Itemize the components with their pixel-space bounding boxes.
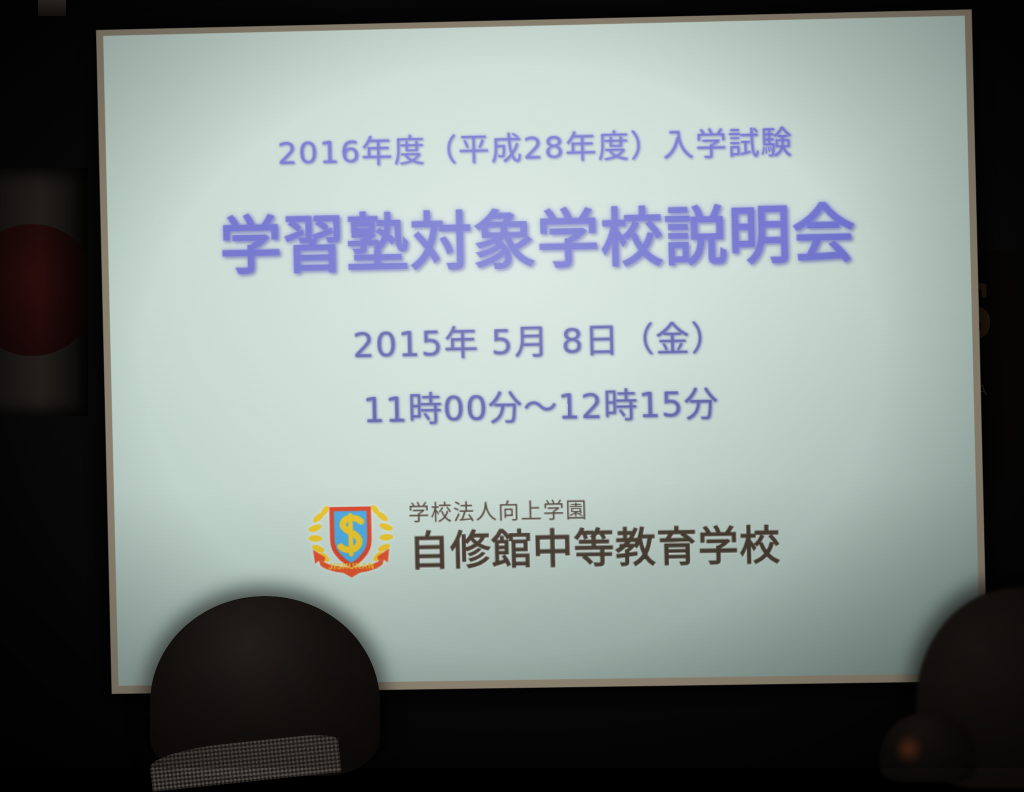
slide-title: 学習塾対象学校説明会 (218, 183, 857, 287)
slide-content: 2016年度（平成28年度）入学試験 学習塾対象学校説明会 2015年 5月 8… (103, 16, 980, 686)
slide-date-line: 2015年 5月 8日（金） (352, 311, 727, 368)
school-name: 自修館中等教育学校 (408, 525, 781, 571)
slide-time-line: 11時00分〜12時15分 (362, 376, 719, 432)
slide-exam-year-line: 2016年度（平成28年度）入学試験 (277, 117, 794, 174)
organization-names: 学校法人向上学園 自修館中等教育学校 (408, 496, 782, 572)
screen-frame: 2016年度（平成28年度）入学試験 学習塾対象学校説明会 2015年 5月 8… (96, 9, 988, 694)
school-crest-icon: JISHUKAN (307, 494, 396, 582)
projection-screen-area: 2016年度（平成28年度）入学試験 学習塾対象学校説明会 2015年 5月 8… (0, 0, 1024, 768)
audience-ear-highlight (896, 734, 922, 764)
svg-text:JISHUKAN: JISHUKAN (329, 562, 375, 572)
slide-footer-organization: JISHUKAN 学校法人向上学園 自修館中等教育学校 (307, 487, 782, 581)
projection-screen: 2016年度（平成28年度）入学試験 学習塾対象学校説明会 2015年 5月 8… (103, 16, 980, 686)
corporate-name: 学校法人向上学園 (408, 496, 780, 523)
